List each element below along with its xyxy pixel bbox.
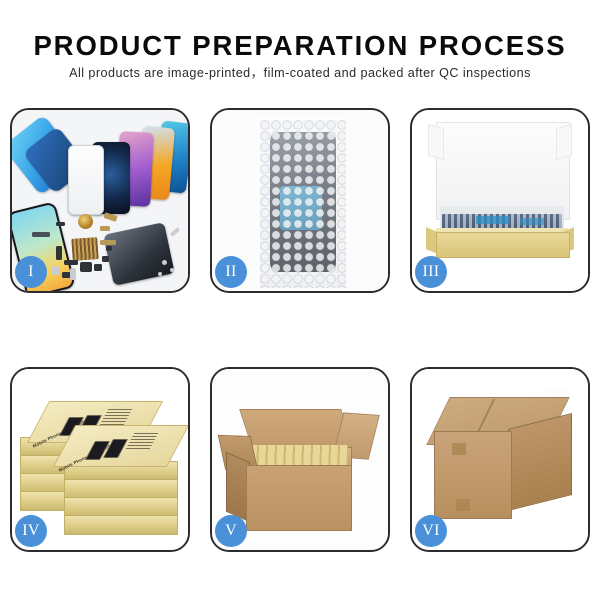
step-badge-5: V <box>215 515 247 547</box>
process-step-panel-2: II <box>210 108 390 293</box>
process-step-panel-3: III <box>410 108 590 293</box>
step-badge-4: IV <box>15 515 47 547</box>
process-step-panel-5: V <box>210 367 390 552</box>
product-preparation-process-infographic: PRODUCT PREPARATION PROCESS All products… <box>0 0 600 600</box>
process-step-panel-6: VI <box>410 367 590 552</box>
page-subtitle: All products are image-printed，film-coat… <box>0 65 600 81</box>
step-badge-2: II <box>215 256 247 288</box>
step-badge-3: III <box>415 256 447 288</box>
step-badge-6: VI <box>415 515 447 547</box>
process-step-panel-4: Mobile Phone Spare Parts Mobile Phone Sp… <box>10 367 190 552</box>
page-title: PRODUCT PREPARATION PROCESS <box>0 30 600 62</box>
step-badge-1: I <box>15 256 47 288</box>
process-steps-grid: I II <box>10 108 590 552</box>
process-step-panel-1: I <box>10 108 190 293</box>
